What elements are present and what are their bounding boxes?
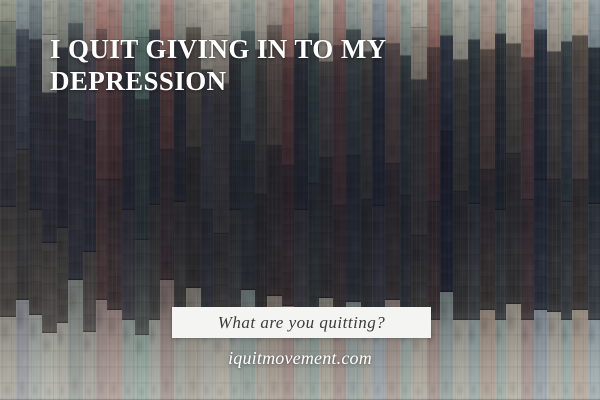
wood-plank-segment xyxy=(440,292,453,400)
wood-plank-segment xyxy=(294,210,307,320)
wood-plank-segment xyxy=(68,0,82,24)
wood-plank-segment xyxy=(400,196,411,320)
wood-plank-segment xyxy=(506,0,521,44)
wood-plank-segment xyxy=(480,0,494,50)
wood-plank-segment xyxy=(16,150,29,300)
wood-plank-segment xyxy=(468,40,480,204)
wood-plank-segment xyxy=(68,280,82,400)
wood-plank-segment xyxy=(547,0,561,52)
tagline-text: What are you quitting? xyxy=(218,313,386,333)
wood-plank-segment xyxy=(588,0,600,48)
site-url-text: iquitmovement.com xyxy=(0,348,600,369)
wood-plank-segment xyxy=(521,0,533,58)
wood-plank-segment xyxy=(29,0,41,40)
wood-plank-segment xyxy=(149,205,160,320)
wood-plank-segment xyxy=(229,210,241,322)
wood-plank-segment xyxy=(572,36,587,180)
wood-plank-segment xyxy=(57,228,68,323)
poster-card: I quit giving in to my depression What a… xyxy=(0,0,600,400)
wood-plank-segment xyxy=(186,288,201,400)
wood-plank-segment xyxy=(385,164,399,300)
wood-plank xyxy=(521,0,533,400)
wood-plank xyxy=(468,0,480,400)
wood-plank-segment xyxy=(547,52,561,180)
wood-plank-segment xyxy=(534,30,547,180)
wood-plank-segment xyxy=(495,0,506,34)
wood-plank-segment xyxy=(0,0,16,22)
wood-plank-segment xyxy=(495,34,506,210)
wood-plank-segment xyxy=(572,0,587,36)
wood-plank-segment xyxy=(308,184,319,314)
wood-plank xyxy=(440,0,453,400)
wood-plank-segment xyxy=(122,210,134,320)
wood-plank-segment xyxy=(453,0,468,60)
tagline-banner: What are you quitting? xyxy=(172,307,431,338)
wood-plank-segment xyxy=(411,80,427,236)
wood-plank-segment xyxy=(534,0,547,30)
wood-plank-segment xyxy=(561,202,572,320)
wood-plank-segment xyxy=(160,150,173,280)
wood-plank-segment xyxy=(0,207,16,317)
wood-plank-segment xyxy=(588,48,600,204)
wood-plank-segment xyxy=(282,166,294,306)
wood-plank-segment xyxy=(149,0,160,30)
wood-plank-segment xyxy=(29,210,41,315)
wood-plank-segment xyxy=(213,0,229,36)
wood-plank-segment xyxy=(160,280,173,400)
wood-plank-segment xyxy=(186,148,201,288)
wood-plank xyxy=(547,0,561,400)
wood-plank-segment xyxy=(241,0,255,32)
wood-plank xyxy=(0,0,16,400)
wood-plank-segment xyxy=(411,0,427,28)
wood-plank xyxy=(495,0,506,400)
wood-plank-segment xyxy=(96,0,107,30)
wood-plank-segment xyxy=(440,36,453,132)
wood-plank-segment xyxy=(68,120,82,280)
wood-plank-segment xyxy=(506,44,521,154)
wood-plank-segment xyxy=(267,146,282,296)
wood-plank xyxy=(29,0,41,400)
wood-plank-segment xyxy=(588,204,600,320)
wood-plank-segment xyxy=(16,0,29,30)
wood-plank-segment xyxy=(201,210,212,320)
wood-plank-segment xyxy=(547,180,561,312)
wood-plank-segment xyxy=(186,0,201,28)
wood-plank-segment xyxy=(572,180,587,310)
wood-plank-segment xyxy=(42,93,57,243)
wood-plank xyxy=(453,0,468,400)
wood-plank-segment xyxy=(361,200,372,320)
wood-plank xyxy=(561,0,572,400)
wood-plank-segment xyxy=(107,180,122,310)
wood-plank-segment xyxy=(241,142,255,290)
wood-plank-segment xyxy=(42,243,57,333)
wood-plank-segment xyxy=(174,202,186,320)
wood-plank-segment xyxy=(440,0,453,36)
wood-plank-segment xyxy=(319,158,333,298)
wood-plank-segment xyxy=(427,202,439,320)
wood-plank-segment xyxy=(42,0,57,35)
poster-headline: I quit giving in to my depression xyxy=(50,33,440,97)
wood-plank-segment xyxy=(534,180,547,310)
wood-plank-segment xyxy=(333,206,345,318)
wood-plank-segment xyxy=(561,42,572,202)
wood-plank-segment xyxy=(521,200,533,320)
wood-plank-segment xyxy=(267,0,282,26)
wood-plank xyxy=(16,0,29,400)
wood-plank xyxy=(480,0,494,400)
wood-plank-segment xyxy=(16,30,29,150)
wood-plank-segment xyxy=(308,0,319,34)
wood-plank-segment xyxy=(440,132,453,292)
wood-plank-segment xyxy=(213,84,229,234)
wood-plank-segment xyxy=(372,206,385,320)
wood-plank xyxy=(588,0,600,400)
wood-plank-segment xyxy=(468,204,480,320)
wood-plank-segment xyxy=(468,0,480,40)
wood-plank-segment xyxy=(561,0,572,42)
wood-plank-segment xyxy=(29,40,41,210)
wood-plank-segment xyxy=(83,252,96,332)
wood-plank-segment xyxy=(453,192,468,320)
wood-plank-segment xyxy=(135,100,149,240)
wood-plank-segment xyxy=(0,67,16,207)
wood-plank-segment xyxy=(0,22,16,67)
wood-plank-segment xyxy=(495,210,506,320)
wood-plank-segment xyxy=(96,180,107,300)
wood-plank xyxy=(534,0,547,400)
wood-plank-segment xyxy=(135,240,149,335)
wood-plank xyxy=(506,0,521,400)
wood-plank-segment xyxy=(346,156,361,302)
wood-plank-segment xyxy=(453,60,468,192)
wood-plank-segment xyxy=(480,50,494,170)
wood-plank-segment xyxy=(83,122,96,252)
wood-plank xyxy=(572,0,587,400)
wood-plank-segment xyxy=(521,58,533,200)
wood-plank-segment xyxy=(480,170,494,310)
wood-plank-segment xyxy=(255,195,266,320)
wood-plank-segment xyxy=(506,154,521,304)
wood-plank-segment xyxy=(346,0,361,30)
